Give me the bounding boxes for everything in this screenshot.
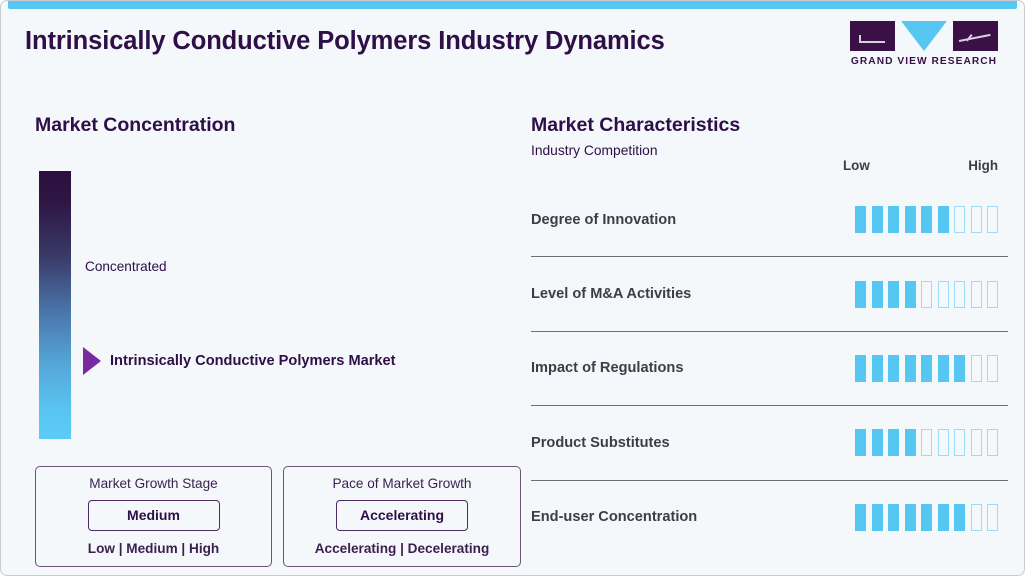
logo-marks: [850, 21, 998, 51]
characteristic-label: End-user Concentration: [531, 509, 697, 525]
meter-tick-empty: [938, 281, 949, 308]
market-characteristics-title: Market Characteristics: [531, 114, 740, 137]
meter-tick-filled: [921, 206, 932, 233]
market-growth-stage-value: Medium: [88, 500, 220, 531]
characteristic-meter: [855, 206, 998, 233]
meter-tick-filled: [855, 281, 866, 308]
meter-tick-filled: [855, 355, 866, 382]
meter-tick-filled: [921, 504, 932, 531]
characteristic-row: Level of M&A Activities: [531, 256, 1008, 330]
characteristics-rows: Degree of InnovationLevel of M&A Activit…: [531, 183, 1008, 554]
characteristic-meter: [855, 429, 998, 456]
meter-tick-empty: [938, 429, 949, 456]
logo-wordmark: GRAND VIEW RESEARCH: [850, 56, 998, 67]
market-position-label: Intrinsically Conductive Polymers Market: [110, 353, 395, 369]
characteristic-row: Degree of Innovation: [531, 183, 1008, 256]
concentration-gradient-bar: [39, 171, 71, 439]
meter-tick-filled: [921, 355, 932, 382]
meter-tick-filled: [888, 281, 899, 308]
meter-tick-filled: [938, 504, 949, 531]
meter-tick-empty: [987, 206, 998, 233]
characteristic-meter: [855, 281, 998, 308]
meter-tick-empty: [971, 504, 982, 531]
meter-tick-filled: [888, 206, 899, 233]
meter-tick-empty: [987, 504, 998, 531]
market-growth-stage-box: Market Growth Stage Medium Low | Medium …: [35, 466, 272, 567]
meter-tick-filled: [954, 355, 965, 382]
meter-tick-filled: [872, 355, 883, 382]
meter-tick-filled: [855, 504, 866, 531]
meter-tick-empty: [971, 281, 982, 308]
meter-tick-filled: [938, 355, 949, 382]
meter-tick-empty: [971, 355, 982, 382]
characteristic-label: Impact of Regulations: [531, 360, 683, 376]
meter-tick-filled: [888, 429, 899, 456]
meter-tick-empty: [921, 281, 932, 308]
market-characteristics-panel: Market Characteristics Industry Competit…: [513, 85, 1025, 576]
characteristic-meter: [855, 355, 998, 382]
scale-low-label: Low: [843, 158, 870, 173]
characteristic-row: End-user Concentration: [531, 480, 1008, 554]
characteristic-label: Product Substitutes: [531, 435, 670, 451]
scale-header: Low High: [843, 158, 998, 173]
market-growth-stage-heading: Market Growth Stage: [50, 476, 257, 491]
gradient-top-label: Concentrated: [85, 259, 167, 274]
meter-tick-filled: [905, 355, 916, 382]
meter-tick-filled: [872, 206, 883, 233]
characteristic-row: Product Substitutes: [531, 405, 1008, 479]
meter-tick-empty: [954, 281, 965, 308]
characteristic-row: Impact of Regulations: [531, 331, 1008, 405]
scale-high-label: High: [968, 158, 998, 173]
pace-of-market-growth-scale: Accelerating | Decelerating: [298, 541, 506, 556]
logo-triangle-icon: [901, 21, 947, 51]
meter-tick-filled: [888, 504, 899, 531]
market-growth-stage-scale: Low | Medium | High: [50, 541, 257, 556]
pace-of-market-growth-heading: Pace of Market Growth: [298, 476, 506, 491]
meter-tick-empty: [921, 429, 932, 456]
meter-tick-filled: [905, 429, 916, 456]
stat-boxes: Market Growth Stage Medium Low | Medium …: [35, 466, 521, 567]
meter-tick-filled: [905, 504, 916, 531]
logo-block-left-icon: [850, 21, 895, 51]
meter-tick-filled: [872, 429, 883, 456]
meter-tick-filled: [888, 355, 899, 382]
infographic-card: Intrinsically Conductive Polymers Indust…: [0, 0, 1025, 576]
characteristic-meter: [855, 504, 998, 531]
meter-tick-empty: [954, 206, 965, 233]
market-concentration-title: Market Concentration: [35, 114, 235, 137]
logo-block-right-icon: [953, 21, 998, 51]
meter-tick-empty: [987, 281, 998, 308]
top-accent-bar: [8, 1, 1017, 9]
meter-tick-filled: [905, 206, 916, 233]
market-concentration-panel: Market Concentration Concentrated Fragme…: [1, 85, 513, 576]
page-title: Intrinsically Conductive Polymers Indust…: [25, 27, 665, 56]
pace-of-market-growth-value: Accelerating: [336, 500, 468, 531]
meter-tick-filled: [938, 206, 949, 233]
pace-of-market-growth-box: Pace of Market Growth Accelerating Accel…: [283, 466, 521, 567]
brand-logo: GRAND VIEW RESEARCH: [850, 21, 998, 67]
meter-tick-filled: [855, 429, 866, 456]
market-position-marker: Intrinsically Conductive Polymers Market: [83, 347, 395, 375]
meter-tick-filled: [855, 206, 866, 233]
meter-tick-filled: [872, 504, 883, 531]
meter-tick-empty: [971, 429, 982, 456]
meter-tick-filled: [905, 281, 916, 308]
market-characteristics-subtitle: Industry Competition: [531, 143, 658, 158]
meter-tick-empty: [987, 429, 998, 456]
header: Intrinsically Conductive Polymers Indust…: [1, 9, 1024, 85]
meter-tick-empty: [954, 429, 965, 456]
characteristic-label: Degree of Innovation: [531, 212, 676, 228]
characteristic-label: Level of M&A Activities: [531, 286, 691, 302]
triangle-pointer-icon: [83, 347, 101, 375]
meter-tick-filled: [872, 281, 883, 308]
meter-tick-empty: [987, 355, 998, 382]
meter-tick-empty: [971, 206, 982, 233]
meter-tick-filled: [954, 504, 965, 531]
